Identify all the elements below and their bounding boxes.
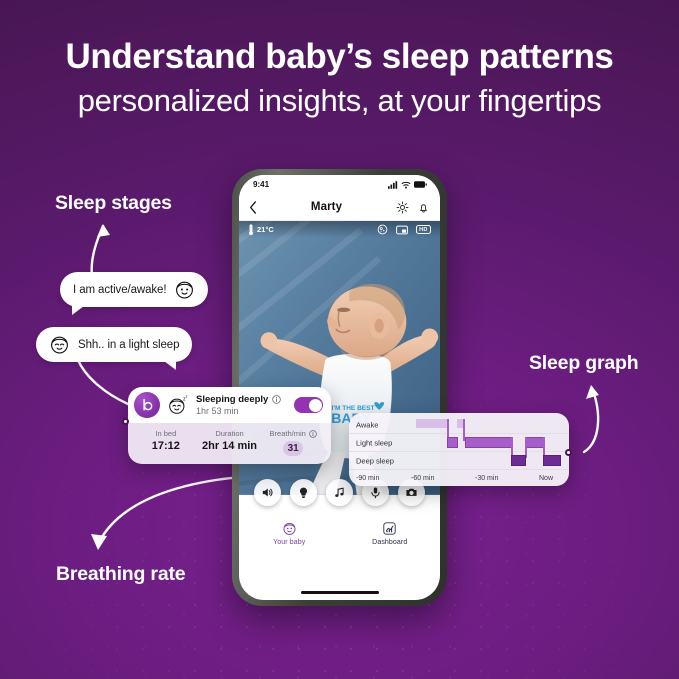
graph-tick-3: Now <box>539 475 553 482</box>
graph-axis: -90 min -60 min -30 min Now <box>349 472 569 484</box>
thermometer-icon <box>248 224 254 236</box>
stat-breath-per-min: Breath/min 31 <box>261 429 325 456</box>
battery-icon <box>414 181 427 188</box>
callout-label-sleep-stages: Sleep stages <box>55 192 172 215</box>
temperature-readout: 21°C <box>248 224 274 236</box>
graph-row-light-sleep-label: Light sleep <box>356 438 392 447</box>
stat-in-bed: In bed 17:12 <box>134 429 198 456</box>
stat-duration-value: 2hr 14 min <box>198 440 262 452</box>
graph-bar-light-1 <box>447 437 458 448</box>
graph-bar-light-2 <box>465 437 512 448</box>
graph-row-deep-sleep: Deep sleep <box>349 452 569 470</box>
app-header: Marty <box>239 194 440 221</box>
microphone-icon <box>369 486 382 499</box>
page-title: Marty <box>265 201 388 213</box>
camera-icon <box>405 486 418 499</box>
picture-in-picture-icon[interactable] <box>396 225 408 235</box>
sleep-graph-rows: Awake Light sleep Deep sleep -90 m <box>349 413 569 486</box>
poster-background: Understand baby’s sleep patterns persona… <box>0 0 679 679</box>
temperature-value: 21°C <box>257 225 274 234</box>
bottom-tab-bar: Your baby Dashboard <box>239 514 440 567</box>
callout-label-sleep-graph: Sleep graph <box>529 352 638 375</box>
sleep-state-label: Sleeping deeply <box>196 394 268 405</box>
graph-bar-light-3 <box>525 437 545 448</box>
chevron-left-icon[interactable] <box>249 201 257 214</box>
stat-breath-label-row: Breath/min <box>261 429 325 438</box>
graph-row-deep-sleep-label: Deep sleep <box>356 456 394 465</box>
speech-bubble-light-sleep-text: Shh.. in a light sleep <box>78 339 179 351</box>
music-note-icon <box>333 486 346 499</box>
awake-baby-face-icon <box>174 279 195 300</box>
sleep-tracking-toggle[interactable] <box>294 397 323 413</box>
camera-overlay-bar: 21°C HD <box>239 221 440 238</box>
graph-tick-0: -90 min <box>356 475 379 482</box>
bell-icon[interactable] <box>417 201 430 214</box>
sleep-card-text: Sleeping deeply 1hr 53 min <box>196 394 287 416</box>
cellular-signal-icon <box>388 181 398 189</box>
home-indicator <box>301 591 379 595</box>
quality-badge: HD <box>416 225 431 234</box>
callout-anchor-sleep-graph <box>565 449 572 456</box>
sleeping-face-icon: z z <box>167 394 189 416</box>
baby-face-icon <box>282 521 297 536</box>
sleep-card-header: z z Sleeping deeply 1hr 53 min <box>128 387 331 423</box>
sleep-card-stats: In bed 17:12 Duration 2hr 14 min Breath/… <box>128 423 331 464</box>
stat-duration: Duration 2hr 14 min <box>198 429 262 456</box>
sleep-graph-card: Awake Light sleep Deep sleep -90 m <box>349 413 569 486</box>
tab-dashboard[interactable]: Dashboard <box>352 521 428 546</box>
svg-text:z: z <box>186 395 188 399</box>
sleep-duration-label: 1hr 53 min <box>196 406 287 416</box>
speech-bubble-light-sleep: Shh.. in a light sleep <box>36 327 192 362</box>
sleep-state-row: Sleeping deeply <box>196 394 287 405</box>
brand-logo-icon <box>134 392 160 418</box>
headline-block: Understand baby’s sleep patterns persona… <box>0 36 679 121</box>
status-bar-time: 9:41 <box>253 180 269 189</box>
tab-your-baby-label: Your baby <box>273 539 305 546</box>
tab-your-baby[interactable]: Your baby <box>251 521 327 546</box>
headline-secondary: personalized insights, at your fingertip… <box>0 81 679 121</box>
speaker-button[interactable] <box>254 479 281 506</box>
lightbulb-icon <box>297 486 310 499</box>
stat-duration-label: Duration <box>198 429 262 438</box>
sleeping-baby-face-icon <box>49 334 70 355</box>
wifi-icon <box>401 181 411 189</box>
speech-bubble-awake: I am active/awake! <box>60 272 208 307</box>
night-vision-icon[interactable] <box>377 224 388 235</box>
gear-icon[interactable] <box>396 201 409 214</box>
chart-icon <box>382 521 397 536</box>
phone-status-bar: 9:41 <box>239 175 440 194</box>
speaker-icon <box>261 486 274 499</box>
graph-tick-2: -30 min <box>475 475 498 482</box>
sleep-summary-card: z z Sleeping deeply 1hr 53 min In bed <box>128 387 331 464</box>
tab-dashboard-label: Dashboard <box>372 539 407 546</box>
headline-primary: Understand baby’s sleep patterns <box>0 36 679 79</box>
stat-in-bed-value: 17:12 <box>134 440 198 452</box>
brand-logo-glyph <box>139 397 155 413</box>
graph-bar-deep-2 <box>543 455 561 466</box>
info-icon[interactable] <box>272 395 281 404</box>
info-icon[interactable] <box>309 430 317 438</box>
stat-breath-value: 31 <box>283 441 303 456</box>
nightlight-button[interactable] <box>290 479 317 506</box>
graph-row-awake-label: Awake <box>356 420 378 429</box>
graph-bar-awake-1 <box>416 419 449 428</box>
callout-label-breathing-rate: Breathing rate <box>56 563 185 586</box>
stat-breath-label: Breath/min <box>270 429 306 438</box>
graph-bar-deep-1 <box>511 455 526 466</box>
camera-overlay-icons: HD <box>377 224 431 235</box>
status-bar-icons <box>388 181 427 189</box>
callout-anchor-breathing <box>122 418 129 425</box>
stat-in-bed-label: In bed <box>134 429 198 438</box>
graph-tick-1: -60 min <box>411 475 434 482</box>
speech-bubble-awake-text: I am active/awake! <box>73 284 166 296</box>
